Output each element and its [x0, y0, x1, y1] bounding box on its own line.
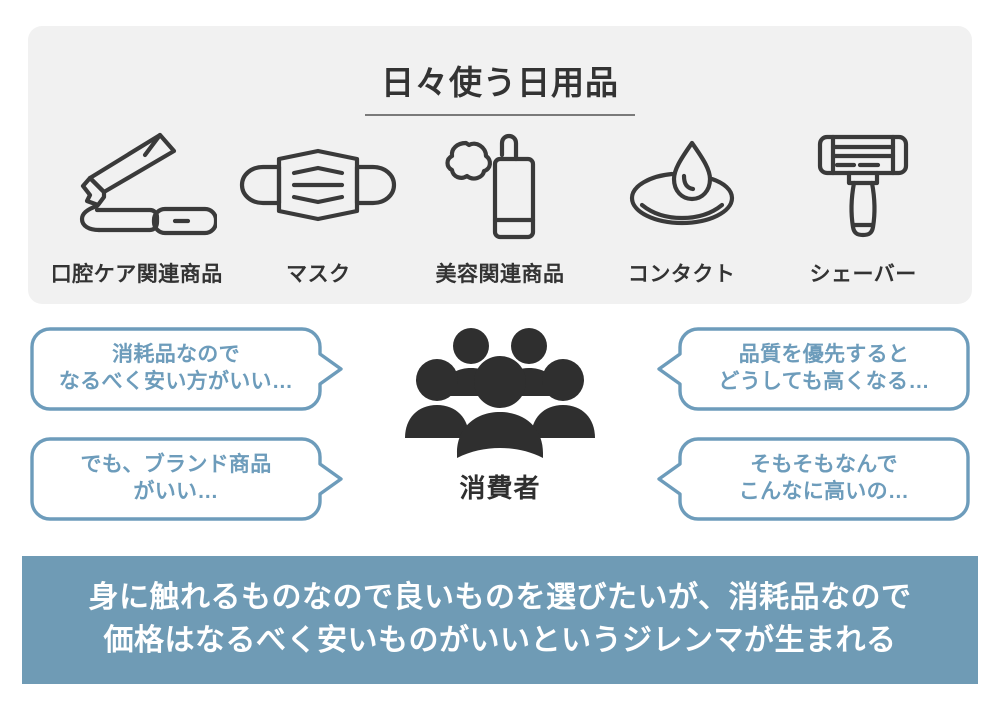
- product-item-shaver: シェーバー: [772, 126, 954, 288]
- daily-necessities-card: 日々使う日用品 口腔ケア関連商品: [28, 26, 972, 304]
- bubble-text: そもそもなんで こんなに高いの…: [676, 436, 972, 522]
- bubble-text: 消耗品なので なるべく安い方がいい…: [28, 326, 324, 412]
- product-label: シェーバー: [810, 258, 917, 288]
- product-icon-row: 口腔ケア関連商品 マスク: [46, 126, 954, 288]
- contact-lens-drop-icon: [620, 126, 744, 244]
- product-item-beauty: 美容関連商品: [409, 126, 591, 288]
- product-label: 口腔ケア関連商品: [51, 258, 223, 288]
- spray-bottle-icon: [440, 126, 560, 244]
- bubble-text: 品質を優先すると どうしても高くなる…: [676, 326, 972, 412]
- product-item-contact: コンタクト: [591, 126, 773, 288]
- card-title: 日々使う日用品: [28, 56, 972, 104]
- speech-bubble-bottom-left: でも、ブランド商品 がいい…: [28, 436, 344, 522]
- product-label: 美容関連商品: [435, 258, 564, 288]
- bubble-text: でも、ブランド商品 がいい…: [28, 436, 324, 522]
- group-of-people-icon: [405, 324, 595, 464]
- banner-line-2: 価格はなるべく安いものがいいというジレンマが生まれる: [104, 620, 897, 663]
- summary-banner: 身に触れるものなので良いものを選びたいが、消耗品なので 価格はなるべく安いものが…: [22, 556, 978, 684]
- product-label: コンタクト: [628, 258, 736, 288]
- bubble-line-1: そもそもなんで: [750, 452, 898, 479]
- bubble-line-1: 消耗品なので: [112, 342, 240, 369]
- speech-bubble-bottom-right: そもそもなんで こんなに高いの…: [656, 436, 972, 522]
- toothpaste-toothbrush-icon: [57, 126, 217, 244]
- product-label: マスク: [286, 258, 351, 288]
- bubble-line-1: 品質を優先すると: [739, 342, 909, 369]
- banner-line-1: 身に触れるものなので良いものを選びたいが、消耗品なので: [89, 577, 912, 620]
- speech-bubble-top-right: 品質を優先すると どうしても高くなる…: [656, 326, 972, 412]
- product-item-oral-care: 口腔ケア関連商品: [46, 126, 228, 288]
- bubble-line-2: こんなに高いの…: [739, 479, 909, 506]
- title-underline: [365, 114, 635, 116]
- consumer-voices-section: 消耗品なので なるべく安い方がいい… でも、ブランド商品 がいい… 品質を優先す…: [0, 318, 1000, 538]
- bubble-line-2: どうしても高くなる…: [718, 369, 929, 396]
- razor-shaver-icon: [804, 126, 922, 244]
- face-mask-icon: [239, 126, 397, 244]
- consumer-group: 消費者: [395, 324, 605, 505]
- consumer-label: 消費者: [459, 468, 540, 505]
- speech-bubble-top-left: 消耗品なので なるべく安い方がいい…: [28, 326, 344, 412]
- bubble-line-1: でも、ブランド商品: [80, 452, 271, 479]
- product-item-mask: マスク: [228, 126, 410, 288]
- bubble-line-2: がいい…: [133, 479, 218, 506]
- bubble-line-2: なるべく安い方がいい…: [59, 369, 293, 396]
